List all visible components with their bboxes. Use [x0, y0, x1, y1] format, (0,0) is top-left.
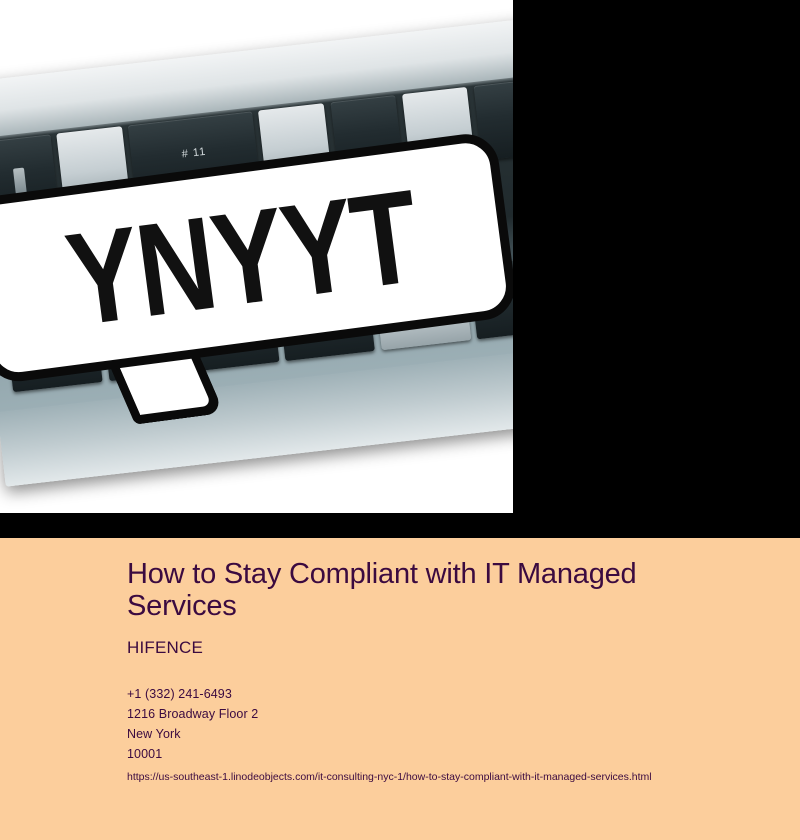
info-panel: How to Stay Compliant with IT Managed Se… — [0, 538, 800, 840]
speech-bubble-text: YNYYT — [60, 170, 424, 346]
contact-zip: 10001 — [127, 744, 747, 764]
info-content: How to Stay Compliant with IT Managed Se… — [127, 558, 747, 786]
page-root: # 11 — [0, 0, 800, 840]
page-title: How to Stay Compliant with IT Managed Se… — [127, 558, 747, 623]
contact-phone: +1 (332) 241-6493 — [127, 684, 747, 704]
key-dot-icon — [13, 168, 26, 195]
hero-band: # 11 — [0, 0, 800, 538]
brand-name: HIFENCE — [127, 638, 747, 658]
source-url[interactable]: https://us-southeast-1.linodeobjects.com… — [127, 768, 747, 786]
keyboard-key-label: # 11 — [181, 145, 207, 160]
contact-street: 1216 Broadway Floor 2 — [127, 704, 747, 724]
contact-block: +1 (332) 241-6493 1216 Broadway Floor 2 … — [127, 684, 747, 764]
hero-image: # 11 — [0, 0, 513, 513]
contact-city: New York — [127, 724, 747, 744]
